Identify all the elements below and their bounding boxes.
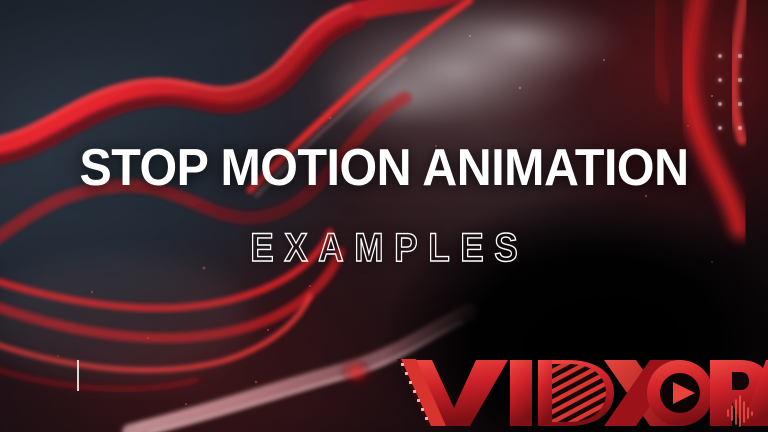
grid-dot (718, 126, 722, 130)
logo-artwork (392, 352, 768, 430)
page-title: STOP MOTION ANIMATION (27, 142, 741, 194)
grid-dot (738, 78, 742, 82)
grid-dot (738, 102, 742, 106)
grid-dot (718, 54, 722, 58)
vidxora-logo (392, 352, 768, 430)
logo-letter-d (538, 360, 614, 426)
dot-grid-decoration (710, 44, 750, 140)
headline-block: STOP MOTION ANIMATION (0, 142, 768, 194)
play-button-icon (647, 360, 713, 426)
logo-letter-i (510, 360, 532, 426)
accent-tick-bar (77, 360, 79, 391)
grid-dot (738, 54, 742, 58)
grid-dot (718, 102, 722, 106)
subheadline-block: EXAMPLES (0, 228, 768, 268)
grid-dot (738, 126, 742, 130)
page-subtitle: EXAMPLES (46, 228, 722, 268)
grid-dot (718, 78, 722, 82)
thumbnail-canvas: STOP MOTION ANIMATION EXAMPLES (0, 0, 768, 432)
